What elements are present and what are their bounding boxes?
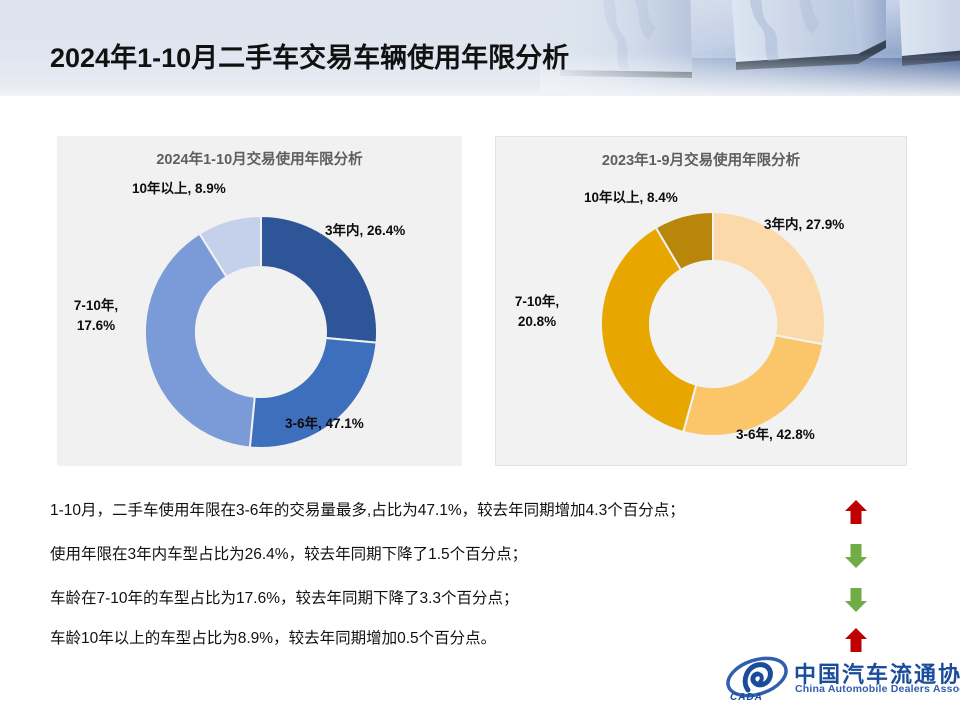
down-arrow-green-icon bbox=[843, 543, 869, 569]
slice-label-2023-3nian-nei: 3年内, 27.9% bbox=[764, 215, 844, 235]
slice-label-2024-3nian-nei: 3年内, 26.4% bbox=[325, 221, 405, 241]
header-art-svg bbox=[540, 0, 960, 96]
blue-cubes-world-map-decoration bbox=[540, 0, 960, 96]
header-band: 2024年1-10月二手车交易车辆使用年限分析 bbox=[0, 0, 960, 96]
down-arrow-green-icon bbox=[843, 587, 869, 613]
slice-label-2023-7-10nian: 7-10年, 20.8% bbox=[494, 292, 580, 333]
donut-2023-svg bbox=[588, 199, 838, 449]
page-title: 2024年1-10月二手车交易车辆使用年限分析 bbox=[50, 36, 569, 75]
summary-text: 使用年限在3年内车型占比为26.4%，较去年同期下降了1.5个百分点； bbox=[50, 542, 527, 564]
summary-text: 1-10月，二手车使用年限在3-6年的交易量最多,占比为47.1%，较去年同期增… bbox=[50, 498, 685, 520]
slice-label-2023-10nian-yishang: 10年以上, 8.4% bbox=[584, 188, 678, 208]
summary-row: 1-10月，二手车使用年限在3-6年的交易量最多,占比为47.1%，较去年同期增… bbox=[50, 498, 910, 524]
up-arrow-red-icon bbox=[843, 499, 869, 525]
summary-row: 车龄10年以上的车型占比为8.9%，较去年同期增加0.5个百分点。 bbox=[50, 626, 910, 652]
cada-mark-text: CADA bbox=[730, 692, 763, 703]
logo-english-name: China Automobile Dealers Association bbox=[795, 683, 960, 695]
slice-label-2023-3-6nian: 3-6年, 42.8% bbox=[736, 425, 815, 445]
summary-text: 车龄10年以上的车型占比为8.9%，较去年同期增加0.5个百分点。 bbox=[50, 626, 496, 648]
summary-row: 车龄在7-10年的车型占比为17.6%，较去年同期下降了3.3个百分点； bbox=[50, 586, 910, 612]
slice-2023-3-6nian bbox=[683, 335, 823, 436]
summary-row: 使用年限在3年内车型占比为26.4%，较去年同期下降了1.5个百分点； bbox=[50, 542, 910, 568]
slice-label-2024-3-6nian: 3-6年, 47.1% bbox=[285, 414, 364, 434]
slice-label-2024-10nian-yishang: 10年以上, 8.9% bbox=[132, 179, 226, 199]
chart-panel-2023: 2023年1-9月交易使用年限分析 10年以上, 8.4% 3年内, 27.9%… bbox=[495, 136, 907, 466]
slice-label-2024-7-10nian: 7-10年, 17.6% bbox=[55, 296, 137, 337]
up-arrow-red-icon bbox=[843, 627, 869, 653]
summary-text: 车龄在7-10年的车型占比为17.6%，较去年同期下降了3.3个百分点； bbox=[50, 586, 519, 608]
chart-panel-2024: 2024年1-10月交易使用年限分析 10年以上, 8.9% 3年内, 26.4… bbox=[57, 136, 462, 466]
cada-logo: CADA 中国汽车流通协会 China Automobile Dealers A… bbox=[722, 656, 950, 712]
